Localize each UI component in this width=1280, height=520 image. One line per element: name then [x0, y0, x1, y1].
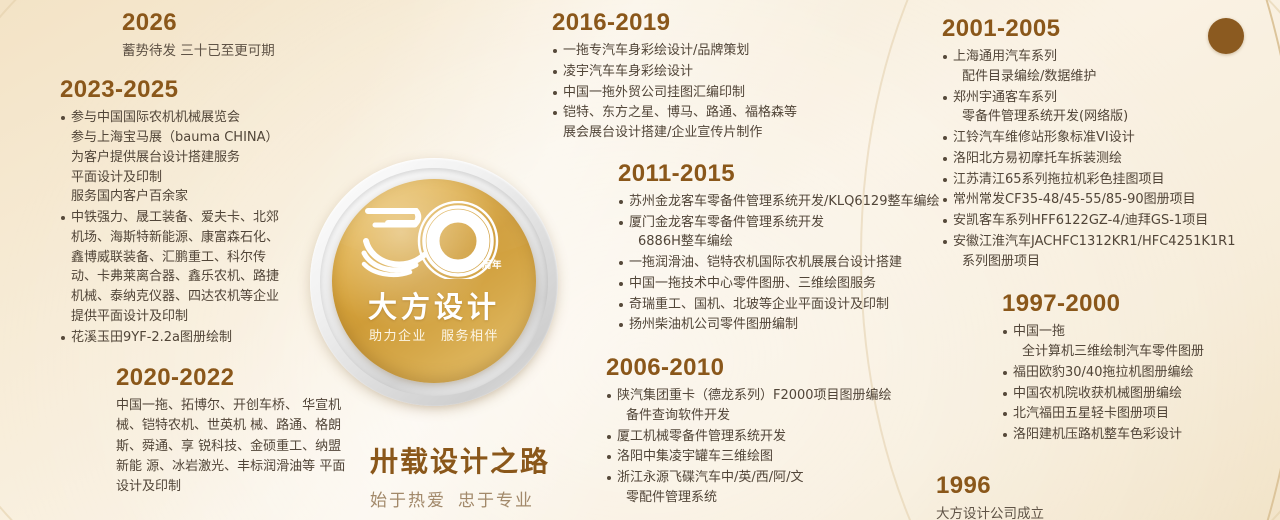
list-item: 凌宇汽车车身彩绘设计 [552, 62, 952, 82]
list-item: 厦工机械零备件管理系统开发 [606, 427, 986, 447]
timeline-entry-1996: 1996 大方设计公司成立 [936, 471, 1262, 520]
year-label: 2001-2005 [942, 14, 1262, 44]
year-note: 蓄势待发 三十已至更可期 [122, 41, 350, 61]
brand-tagline: 助力企业服务相伴 [332, 325, 536, 344]
slogan-sub-text: 始于热爱忠于专业 [370, 486, 600, 511]
list-item: 洛阳建机压路机整车色彩设计 [1002, 425, 1272, 445]
list-item: 郑州宇通客车系列 零备件管理系统开发(网络版) [942, 88, 1262, 128]
entry-item-list: 陕汽集团重卡（德龙系列）F2000项目图册编绘 备件查询软件开发 厦工机械零备件… [606, 386, 986, 508]
year-label: 1997-2000 [1002, 289, 1272, 319]
list-item: 上海通用汽车系列 配件目录编绘/数据维护 [942, 47, 1262, 87]
year-label: 2006-2010 [606, 353, 986, 383]
timeline-entry-2026: 2026 蓄势待发 三十已至更可期 [60, 8, 350, 61]
year-label: 1996 [936, 471, 1262, 501]
list-item: 江苏清江65系列拖拉机彩色挂图项目 [942, 170, 1262, 190]
timeline-column-left: 2026 蓄势待发 三十已至更可期 2023-2025 参与中国国际农机机械展览… [60, 8, 350, 503]
entry-paragraph: 中国一拖、拓博尔、开创车桥、 华宣机械、铠特农机、世英机 械、路通、格朗斯、舜通… [116, 396, 350, 497]
slogan-sub-left: 始于热爱 [370, 491, 446, 511]
list-item: 中国一拖外贸公司挂图汇编印制 [552, 83, 952, 103]
entry-item-list: 上海通用汽车系列 配件目录编绘/数据维护 郑州宇通客车系列 零备件管理系统开发(… [942, 47, 1262, 271]
timeline-entry-2020-2022: 2020-2022 中国一拖、拓博尔、开创车桥、 华宣机械、铠特农机、世英机 械… [60, 363, 350, 497]
infographic-canvas: 2026 蓄势待发 三十已至更可期 2023-2025 参与中国国际农机机械展览… [0, 0, 1280, 520]
list-item: 安徽江淮汽车JACHFC1312KR1/HFC4251K1R1 系列图册项目 [942, 232, 1262, 272]
anniversary-badge: 周年 大方设计 助力企业服务相伴 [310, 158, 560, 408]
list-item: 中铁强力、晟工装备、爱夫卡、北郊 机场、海斯特新能源、康富森石化、 鑫博威联装备… [60, 208, 350, 327]
entry-item-list: 中国一拖 全计算机三维绘制汽车零件图册 福田欧豹30/40拖拉机图册编绘 中国农… [1002, 322, 1272, 445]
list-item: 常州常发CF35-48/45-55/85-90图册项目 [942, 190, 1262, 210]
list-item: 中国农机院收获机械图册编绘 [1002, 384, 1272, 404]
year-label: 2016-2019 [552, 8, 952, 38]
entry-item-list: 一拖专汽车身彩绘设计/品牌策划 凌宇汽车车身彩绘设计 中国一拖外贸公司挂图汇编印… [552, 41, 952, 143]
slogan-main-text: 卅载设计之路 [370, 440, 600, 480]
list-item: 洛阳北方易初摩托车拆装测绘 [942, 149, 1262, 169]
year-label: 2023-2025 [60, 75, 350, 105]
list-item: 铠特、东方之星、博马、路通、福格森等 展会展台设计搭建/企业宣传片制作 [552, 103, 952, 143]
list-item: 一拖专汽车身彩绘设计/品牌策划 [552, 41, 952, 61]
list-item: 江铃汽车维修站形象标准VI设计 [942, 128, 1262, 148]
slogan-sub-right: 忠于专业 [458, 491, 534, 511]
bottom-slogan: 卅载设计之路 始于热爱忠于专业 [370, 440, 600, 511]
year-note: 大方设计公司成立 [936, 504, 1262, 520]
timeline-entry-2023-2025: 2023-2025 参与中国国际农机机械展览会 参与上海宝马展（bauma CH… [60, 75, 350, 347]
list-item: 洛阳中集凌宇罐车三维绘图 [606, 447, 986, 467]
brand-name: 大方设计 [332, 284, 536, 326]
timeline-entry-2016-2019: 2016-2019 一拖专汽车身彩绘设计/品牌策划 凌宇汽车车身彩绘设计 中国一… [552, 8, 952, 143]
brand-tagline-right: 服务相伴 [441, 329, 499, 344]
list-item: 参与中国国际农机机械展览会 参与上海宝马展（bauma CHINA） 为客户提供… [60, 108, 350, 207]
timeline-entry-2006-2010: 2006-2010 陕汽集团重卡（德龙系列）F2000项目图册编绘 备件查询软件… [606, 353, 986, 508]
list-item: 陕汽集团重卡（德龙系列）F2000项目图册编绘 备件查询软件开发 [606, 386, 986, 426]
timeline-column-right: 2001-2005 上海通用汽车系列 配件目录编绘/数据维护 郑州宇通客车系列 … [942, 14, 1262, 520]
badge-gold-face: 周年 大方设计 助力企业服务相伴 [332, 179, 536, 383]
list-item: 福田欧豹30/40拖拉机图册编绘 [1002, 363, 1272, 383]
brand-tagline-left: 助力企业 [369, 329, 427, 344]
anniversary-label: 周年 [482, 257, 502, 271]
list-item: 花溪玉田9YF-2.2a图册绘制 [60, 328, 350, 348]
list-item: 北汽福田五星轻卡图册项目 [1002, 404, 1272, 424]
list-item: 安凯客车系列HFF6122GZ-4/迪拜GS-1项目 [942, 211, 1262, 231]
list-item: 浙江永源飞碟汽车中/英/西/阿/文 零配件管理系统 [606, 468, 986, 508]
year-label: 2026 [122, 8, 350, 38]
timeline-entry-1997-2000: 1997-2000 中国一拖 全计算机三维绘制汽车零件图册 福田欧豹30/40拖… [1002, 289, 1272, 445]
entry-item-list: 参与中国国际农机机械展览会 参与上海宝马展（bauma CHINA） 为客户提供… [60, 108, 350, 347]
timeline-entry-2001-2005: 2001-2005 上海通用汽车系列 配件目录编绘/数据维护 郑州宇通客车系列 … [942, 14, 1262, 271]
timeline-column-middle: 2016-2019 一拖专汽车身彩绘设计/品牌策划 凌宇汽车车身彩绘设计 中国一… [552, 8, 952, 514]
list-item: 中国一拖 全计算机三维绘制汽车零件图册 [1002, 322, 1272, 362]
